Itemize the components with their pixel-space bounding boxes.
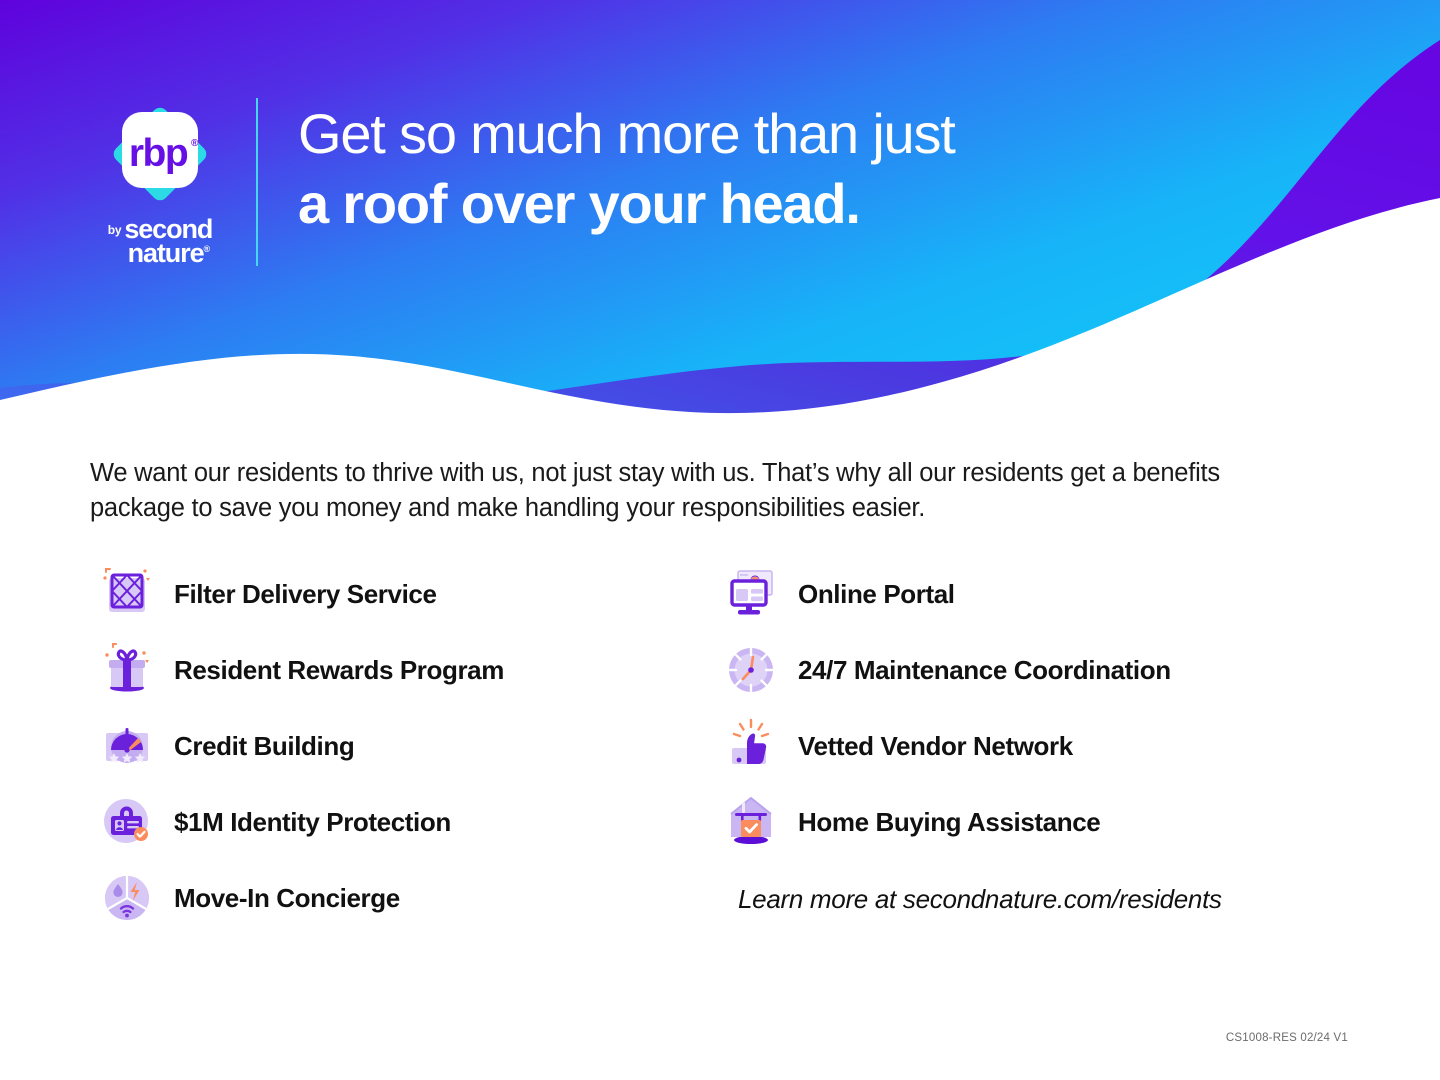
- benefit-label: 24/7 Maintenance Coordination: [798, 656, 1171, 685]
- benefit-label: Credit Building: [174, 732, 354, 761]
- benefit-item-vetted-vendor-network: Vetted Vendor Network: [720, 708, 1380, 784]
- document-code: CS1008-RES 02/24 V1: [1226, 1032, 1348, 1044]
- brand-logo-lockup: rbp ® by second nature®: [90, 98, 230, 266]
- benefit-item-maintenance-coordination: 24/7 Maintenance Coordination: [720, 632, 1380, 708]
- hero-content: rbp ® by second nature® Get so much: [90, 98, 955, 266]
- benefit-label: Vetted Vendor Network: [798, 732, 1073, 761]
- headline-line-2: a roof over your head.: [298, 172, 955, 236]
- house-checkmark-icon: [720, 791, 782, 853]
- benefit-item-move-in-concierge: Move-In Concierge: [96, 860, 660, 936]
- hero-banner: rbp ® by second nature® Get so much: [0, 0, 1440, 440]
- benefit-item-resident-rewards-program: Resident Rewards Program: [96, 632, 660, 708]
- rbp-logo-icon: rbp ®: [108, 102, 212, 206]
- utilities-circle-icon: [96, 867, 158, 929]
- benefit-item-credit-building: Credit Building: [96, 708, 660, 784]
- id-badge-shield-icon: [96, 791, 158, 853]
- gift-box-icon: [96, 639, 158, 701]
- benefit-label: $1M Identity Protection: [174, 808, 451, 837]
- benefit-item-home-buying-assistance: Home Buying Assistance: [720, 784, 1380, 860]
- benefits-column-left: Filter Delivery Service: [0, 556, 660, 936]
- benefit-label: Move-In Concierge: [174, 884, 400, 913]
- wordmark-line-nature: nature: [128, 238, 204, 268]
- learn-more-text[interactable]: Learn more at secondnature.com/residents: [738, 884, 1380, 915]
- second-nature-wordmark: by second nature®: [108, 218, 213, 266]
- wordmark-by-label: by: [108, 224, 122, 236]
- benefit-label: Home Buying Assistance: [798, 808, 1100, 837]
- intro-paragraph: We want our residents to thrive with us,…: [90, 456, 1305, 526]
- benefit-item-filter-delivery-service: Filter Delivery Service: [96, 556, 660, 632]
- svg-text:®: ®: [191, 138, 199, 149]
- air-filter-icon: [96, 563, 158, 625]
- svg-text:rbp: rbp: [129, 132, 188, 175]
- thumbs-up-icon: [720, 715, 782, 777]
- benefits-column-right: Online Portal: [660, 556, 1380, 936]
- benefit-label: Online Portal: [798, 580, 955, 609]
- headline-line-1: Get so much more than just: [298, 102, 955, 166]
- clock-icon: [720, 639, 782, 701]
- desktop-monitor-icon: [720, 563, 782, 625]
- credit-score-gauge-icon: [96, 715, 158, 777]
- benefit-label: Filter Delivery Service: [174, 580, 437, 609]
- benefits-list: Filter Delivery Service: [0, 556, 1440, 936]
- benefit-label: Resident Rewards Program: [174, 656, 504, 685]
- benefit-item-identity-protection: $1M Identity Protection: [96, 784, 660, 860]
- flyer-page: rbp ® by second nature® Get so much: [0, 0, 1440, 1080]
- registered-trademark-icon: ®: [203, 244, 209, 254]
- benefit-item-online-portal: Online Portal: [720, 556, 1380, 632]
- hero-headline: Get so much more than just a roof over y…: [298, 98, 955, 237]
- body-section: We want our residents to thrive with us,…: [0, 456, 1440, 526]
- vertical-divider: [256, 98, 258, 266]
